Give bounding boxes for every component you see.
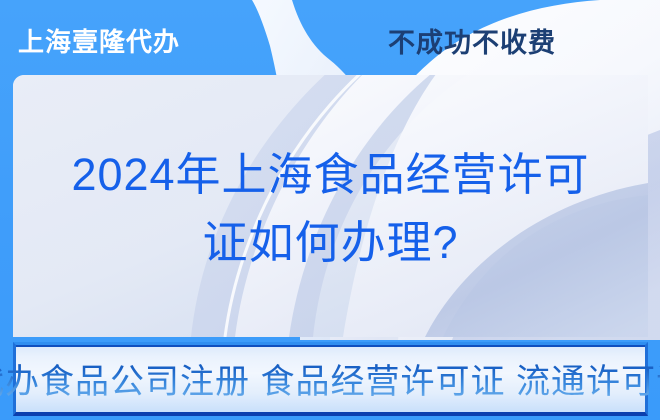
content-panel: 2024年上海食品经营许可 证如何办理? — [13, 75, 648, 337]
headline-block: 2024年上海食品经营许可 证如何办理? — [13, 141, 648, 278]
keyword-bar: 代办食品公司注册 食品经营许可证 流通许可证 — [13, 342, 648, 416]
keyword-bar-inner: 代办食品公司注册 食品经营许可证 流通许可证 — [16, 345, 645, 412]
promo-banner: 上海壹隆代办 不成功不收费 — [0, 0, 660, 420]
slogan-text: 不成功不收费 — [388, 21, 556, 60]
keyword-list-text: 代办食品公司注册 食品经营许可证 流通许可证 — [0, 354, 660, 403]
headline-line-1: 2024年上海食品经营许可 — [13, 141, 648, 209]
company-logo-text: 上海壹隆代办 — [18, 22, 180, 59]
headline-line-2: 证如何办理? — [13, 209, 648, 277]
banner-header: 上海壹隆代办 不成功不收费 — [0, 0, 660, 76]
